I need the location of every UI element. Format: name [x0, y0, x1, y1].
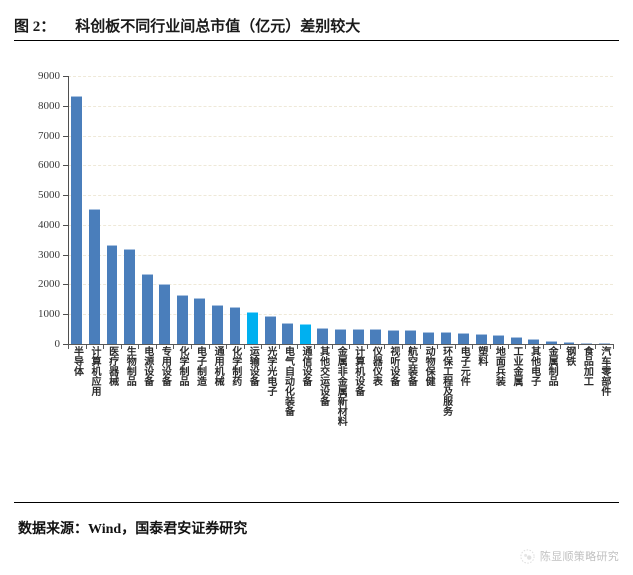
- page-title: 科创板不同行业间总市值（亿元）差别较大: [75, 15, 360, 36]
- bar: [511, 337, 522, 344]
- bar: [405, 330, 416, 344]
- bar-series: [68, 76, 613, 344]
- x-axis-category-label: 其他交运设备: [317, 346, 327, 406]
- x-axis-category-label: 电源设备: [142, 346, 152, 386]
- x-axis-category-label: 通信设备: [300, 346, 310, 386]
- x-axis-category-label: 计算机设备: [353, 346, 363, 396]
- figure-number: 图 2：: [14, 15, 55, 36]
- bar: [370, 329, 381, 344]
- x-axis-category-label: 汽车零部件: [599, 346, 609, 396]
- bar: [124, 249, 135, 344]
- x-axis-category-label: 生物制品: [124, 346, 134, 386]
- x-axis-category-label: 环保工程及服务: [440, 346, 450, 416]
- y-axis-label: 7000: [38, 130, 60, 142]
- bar: [107, 245, 118, 344]
- bar: [71, 96, 82, 344]
- x-axis-category-label: 电子元件: [458, 346, 468, 386]
- bar: [317, 328, 328, 344]
- x-axis-category-labels: 半导体计算机应用医疗器械生物制品电源设备专用设备化学制品电子制造通用机械化学制药…: [68, 346, 613, 492]
- x-axis-category-label: 仪器仪表: [370, 346, 380, 386]
- x-axis-category-label: 工业金属: [511, 346, 521, 386]
- chen-xianshun-logo-icon: [520, 549, 535, 564]
- bar: [247, 312, 258, 344]
- x-axis-tick: [613, 344, 614, 349]
- bar: [493, 335, 504, 344]
- figure-title-row: 图 2： 科创板不同行业间总市值（亿元）差别较大: [14, 10, 619, 40]
- bar: [89, 209, 100, 344]
- x-axis-category-label: 电子制造: [194, 346, 204, 386]
- bar-chart: 0100020003000400050006000700080009000 半导…: [14, 52, 619, 492]
- title-divider-top: [14, 40, 619, 41]
- x-axis-category-label: 其他电子: [528, 346, 538, 386]
- x-axis-category-label: 航空装备: [405, 346, 415, 386]
- source-divider: [14, 502, 619, 503]
- x-axis-category-label: 金属制品: [546, 346, 556, 386]
- x-axis-category-label: 食品加工: [581, 346, 591, 386]
- y-axis-label: 4000: [38, 219, 60, 231]
- y-axis-label: 5000: [38, 189, 60, 201]
- x-axis-category-label: 半导体: [71, 346, 81, 376]
- bar: [159, 284, 170, 344]
- bar: [212, 305, 223, 344]
- x-axis-category-label: 专用设备: [159, 346, 169, 386]
- x-axis-category-label: 光学光电子: [265, 346, 275, 396]
- bar: [177, 295, 188, 344]
- bar: [230, 307, 241, 344]
- bar: [441, 332, 452, 344]
- watermark-label: 陈显顺策略研究: [540, 548, 619, 564]
- y-axis-label: 3000: [38, 249, 60, 261]
- figure-page: 图 2： 科创板不同行业间总市值（亿元）差别较大 010002000300040…: [0, 0, 633, 575]
- y-axis-label: 1000: [38, 308, 60, 320]
- x-axis-category-label: 电气自动化装备: [282, 346, 292, 416]
- x-axis-category-label: 视听设备: [388, 346, 398, 386]
- bar: [142, 274, 153, 344]
- bar: [353, 329, 364, 344]
- bar: [265, 316, 276, 344]
- bar: [476, 334, 487, 344]
- bar: [300, 324, 311, 344]
- y-axis-label: 9000: [38, 70, 60, 82]
- bar: [282, 323, 293, 344]
- x-axis-category-label: 化学制品: [177, 346, 187, 386]
- bar: [388, 330, 399, 344]
- plot-area: 0100020003000400050006000700080009000: [68, 76, 613, 344]
- bar: [335, 329, 346, 344]
- x-axis-category-label: 化学制药: [230, 346, 240, 386]
- bar: [458, 333, 469, 344]
- source-note: 数据来源：Wind，国泰君安证券研究: [18, 518, 247, 538]
- x-axis-category-label: 运输设备: [247, 346, 257, 386]
- x-axis-category-label: 动物保健: [423, 346, 433, 386]
- x-axis-category-label: 塑料: [476, 346, 486, 366]
- y-axis-label: 2000: [38, 278, 60, 290]
- bar: [194, 298, 205, 344]
- x-axis-category-label: 通用机械: [212, 346, 222, 386]
- x-axis-category-label: 钢铁: [564, 346, 574, 366]
- x-axis-category-label: 金属非金属新材料: [335, 346, 345, 426]
- y-axis-label: 0: [55, 338, 61, 350]
- watermark: 陈显顺策略研究: [520, 548, 619, 564]
- bar: [423, 332, 434, 345]
- x-axis-category-label: 计算机应用: [89, 346, 99, 396]
- x-axis-category-label: 地面兵装: [493, 346, 503, 386]
- y-axis-label: 8000: [38, 100, 60, 112]
- y-axis-label: 6000: [38, 159, 60, 171]
- x-axis-category-label: 医疗器械: [106, 346, 116, 386]
